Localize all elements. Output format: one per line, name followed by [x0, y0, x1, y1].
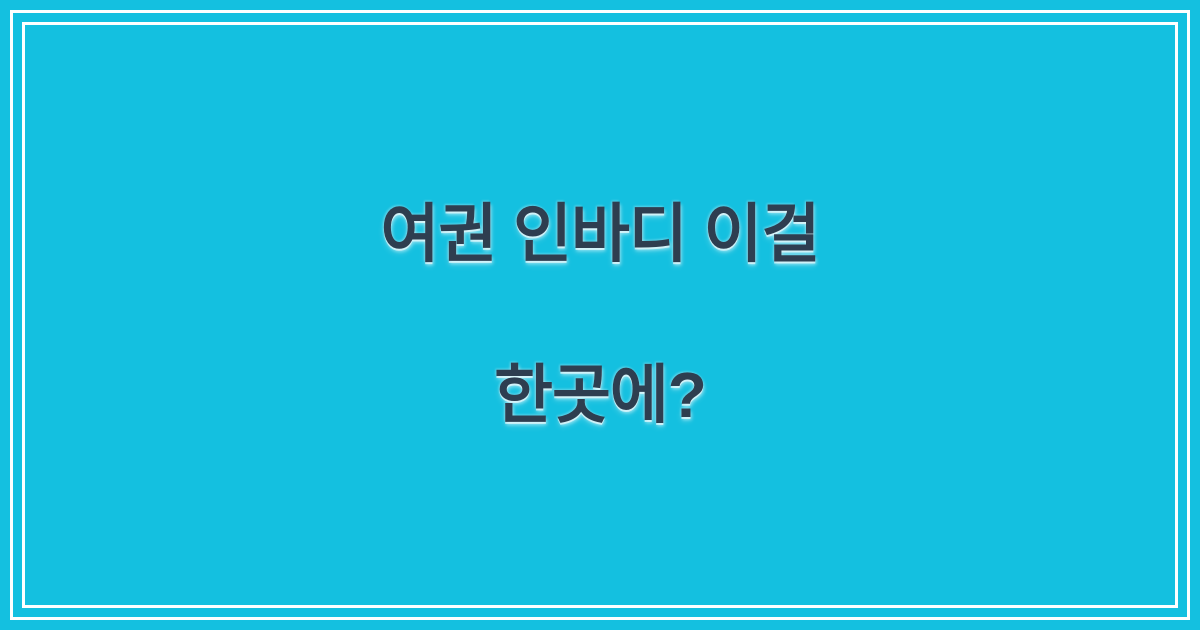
banner-title: 여권 인바디 이걸 한곳에? — [381, 113, 820, 516]
banner-title-line-2: 한곳에? — [381, 355, 820, 436]
banner-title-line-1: 여권 인바디 이걸 — [381, 194, 820, 275]
title-block: 여권 인바디 이걸 한곳에? — [0, 0, 1200, 630]
banner-card: 여권 인바디 이걸 한곳에? — [0, 0, 1200, 630]
